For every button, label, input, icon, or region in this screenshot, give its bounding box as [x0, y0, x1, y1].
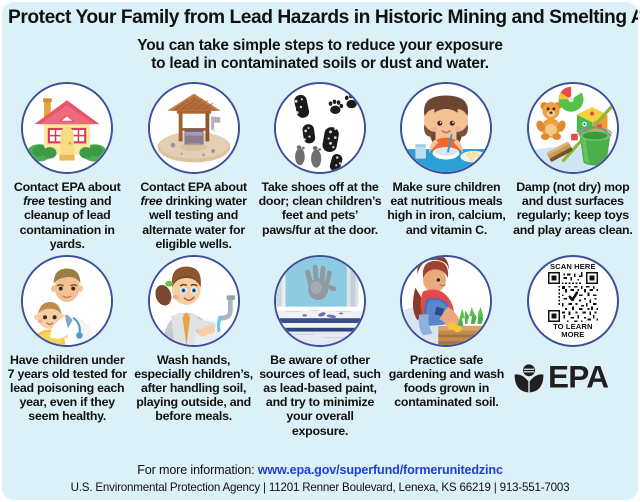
tip-caption: Take shoes off at the door; clean childr…: [258, 180, 382, 237]
tip-item: Be aware of other sources of lead, such …: [257, 251, 383, 438]
tip-caption: Contact EPA about free drinking water we…: [132, 180, 256, 251]
scan-here-badge[interactable]: SCAN HERE: [527, 255, 619, 347]
child-washing-hands-icon: [148, 255, 240, 347]
tip-caption: Damp (not dry) mop and dust surfaces reg…: [511, 180, 635, 237]
child-eating-meal-icon: [400, 82, 492, 174]
poster-footer: For more information: www.epa.gov/superf…: [0, 463, 640, 494]
epa-wordmark: EPA: [548, 361, 634, 395]
epa-url-link[interactable]: www.epa.gov/superfund/formerunitedzinc: [258, 463, 503, 477]
tips-row-2: Have children under 7 years old tested f…: [4, 251, 636, 438]
mop-bucket-toys-icon: [527, 82, 619, 174]
footprints-pawprints-icon: [274, 82, 366, 174]
qr-code-icon[interactable]: [548, 272, 598, 322]
page-title: Protect Your Family from Lead Hazards in…: [8, 8, 632, 28]
tip-caption: Be aware of other sources of lead, such …: [258, 353, 382, 438]
epa-seal-icon: [512, 361, 546, 395]
tip-item: Wash hands, especially children’s, after…: [130, 251, 256, 438]
tip-caption: Practice safe gardening and wash foods g…: [384, 353, 508, 410]
tip-caption: Contact EPA about free testing and clean…: [5, 180, 129, 251]
page-subtitle: You can take simple steps to reduce your…: [8, 37, 632, 73]
tips-grid: Contact EPA about free testing and clean…: [0, 82, 640, 438]
tip-item: Contact EPA about free drinking water we…: [130, 82, 256, 251]
poster-header: Protect Your Family from Lead Hazards in…: [0, 0, 640, 73]
tip-item: Have children under 7 years old tested f…: [4, 251, 130, 438]
qr-and-logo-cell: SCAN HERE: [510, 251, 636, 438]
tip-item: Contact EPA about free testing and clean…: [4, 82, 130, 251]
tip-caption: Make sure children eat nutritious meals …: [384, 180, 508, 237]
qr-bottom-label: TO LEARN MORE: [553, 323, 592, 339]
house-icon: [21, 82, 113, 174]
handprint-on-windowsill-icon: [274, 255, 366, 347]
tip-caption: Wash hands, especially children’s, after…: [132, 353, 256, 424]
tip-item: Damp (not dry) mop and dust surfaces reg…: [510, 82, 636, 251]
svg-text:EPA: EPA: [548, 361, 608, 394]
poster-root: Protect Your Family from Lead Hazards in…: [0, 0, 640, 502]
subtitle-line-1: You can take simple steps to reduce your…: [8, 37, 632, 55]
tip-item: Make sure children eat nutritious meals …: [383, 82, 509, 251]
tip-item: Take shoes off at the door; clean childr…: [257, 82, 383, 251]
subtitle-line-2: to lead in contaminated soils or dust an…: [8, 55, 632, 73]
safe-gardening-icon: [400, 255, 492, 347]
tips-row-1: Contact EPA about free testing and clean…: [4, 82, 636, 251]
footer-prefix: For more information:: [137, 463, 258, 477]
agency-address-line: U.S. Environmental Protection Agency | 1…: [0, 481, 640, 494]
doctor-holding-baby-icon: [21, 255, 113, 347]
tip-item: Practice safe gardening and wash foods g…: [383, 251, 509, 438]
epa-logo: EPA: [512, 361, 634, 395]
qr-top-label: SCAN HERE: [550, 263, 596, 271]
water-well-icon: [148, 82, 240, 174]
more-information-line: For more information: www.epa.gov/superf…: [0, 463, 640, 477]
tip-caption: Have children under 7 years old tested f…: [5, 353, 129, 424]
